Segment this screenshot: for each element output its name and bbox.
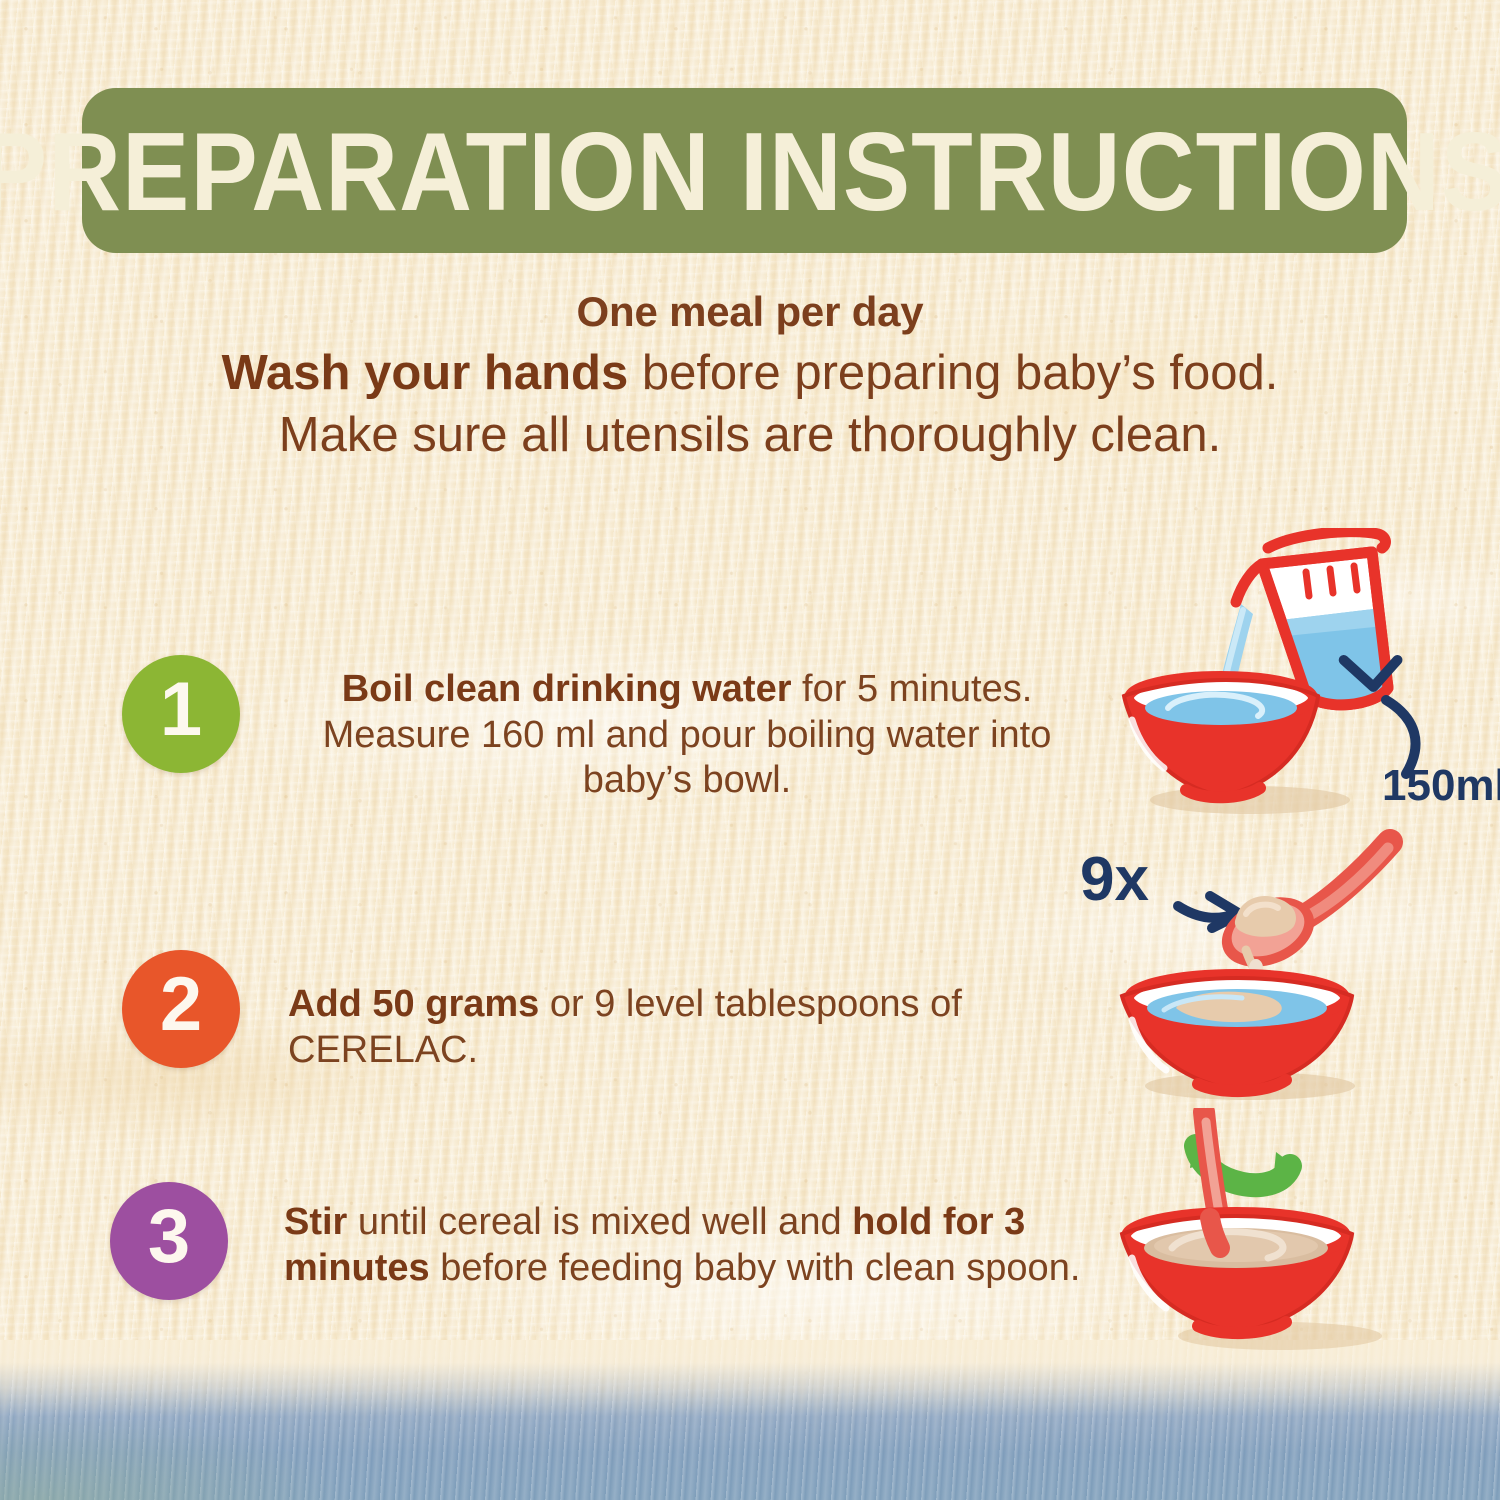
spoon-adding-cereal-to-bowl-icon: 9x [1060,818,1500,1118]
step-3-rest: until cereal is mixed well and [347,1201,852,1243]
step-3-bold-lead: Stir [284,1201,347,1243]
step-item-3: 3 Stir until cereal is mixed well and ho… [110,1182,1120,1300]
step-number-2: 2 [160,967,202,1043]
step-text-2: Add 50 grams or 9 level tablespoons of C… [288,982,1122,1073]
step-number-3: 3 [148,1199,190,1275]
preparation-instructions-panel: PREPARATION INSTRUCTIONS One meal per da… [0,0,1500,1500]
step-number-badge-1: 1 [122,655,240,773]
jug-pouring-water-into-bowl-icon: 150ml [1110,528,1500,838]
step-number-badge-3: 3 [110,1182,228,1300]
step-3-tail-rest: before feeding baby with clean spoon. [430,1247,1081,1289]
step-text-1: Boil clean drinking water for 5 minutes.… [292,667,1082,804]
step-number-1: 1 [160,672,202,748]
step-number-badge-2: 2 [122,950,240,1068]
spoon-stirring-bowl-icon [1100,1108,1500,1408]
step-item-2: 2 Add 50 grams or 9 level tablespoons of… [122,950,1122,1073]
step-item-1: 1 Boil clean drinking water for 5 minute… [122,655,1082,804]
step-2-bold-lead: Add 50 grams [288,983,539,1025]
callout-150ml: 150ml [1382,761,1500,810]
step-1-bold-lead: Boil clean drinking water [342,668,792,710]
callout-9x: 9x [1080,845,1149,914]
step-text-3: Stir until cereal is mixed well and hold… [284,1200,1120,1291]
